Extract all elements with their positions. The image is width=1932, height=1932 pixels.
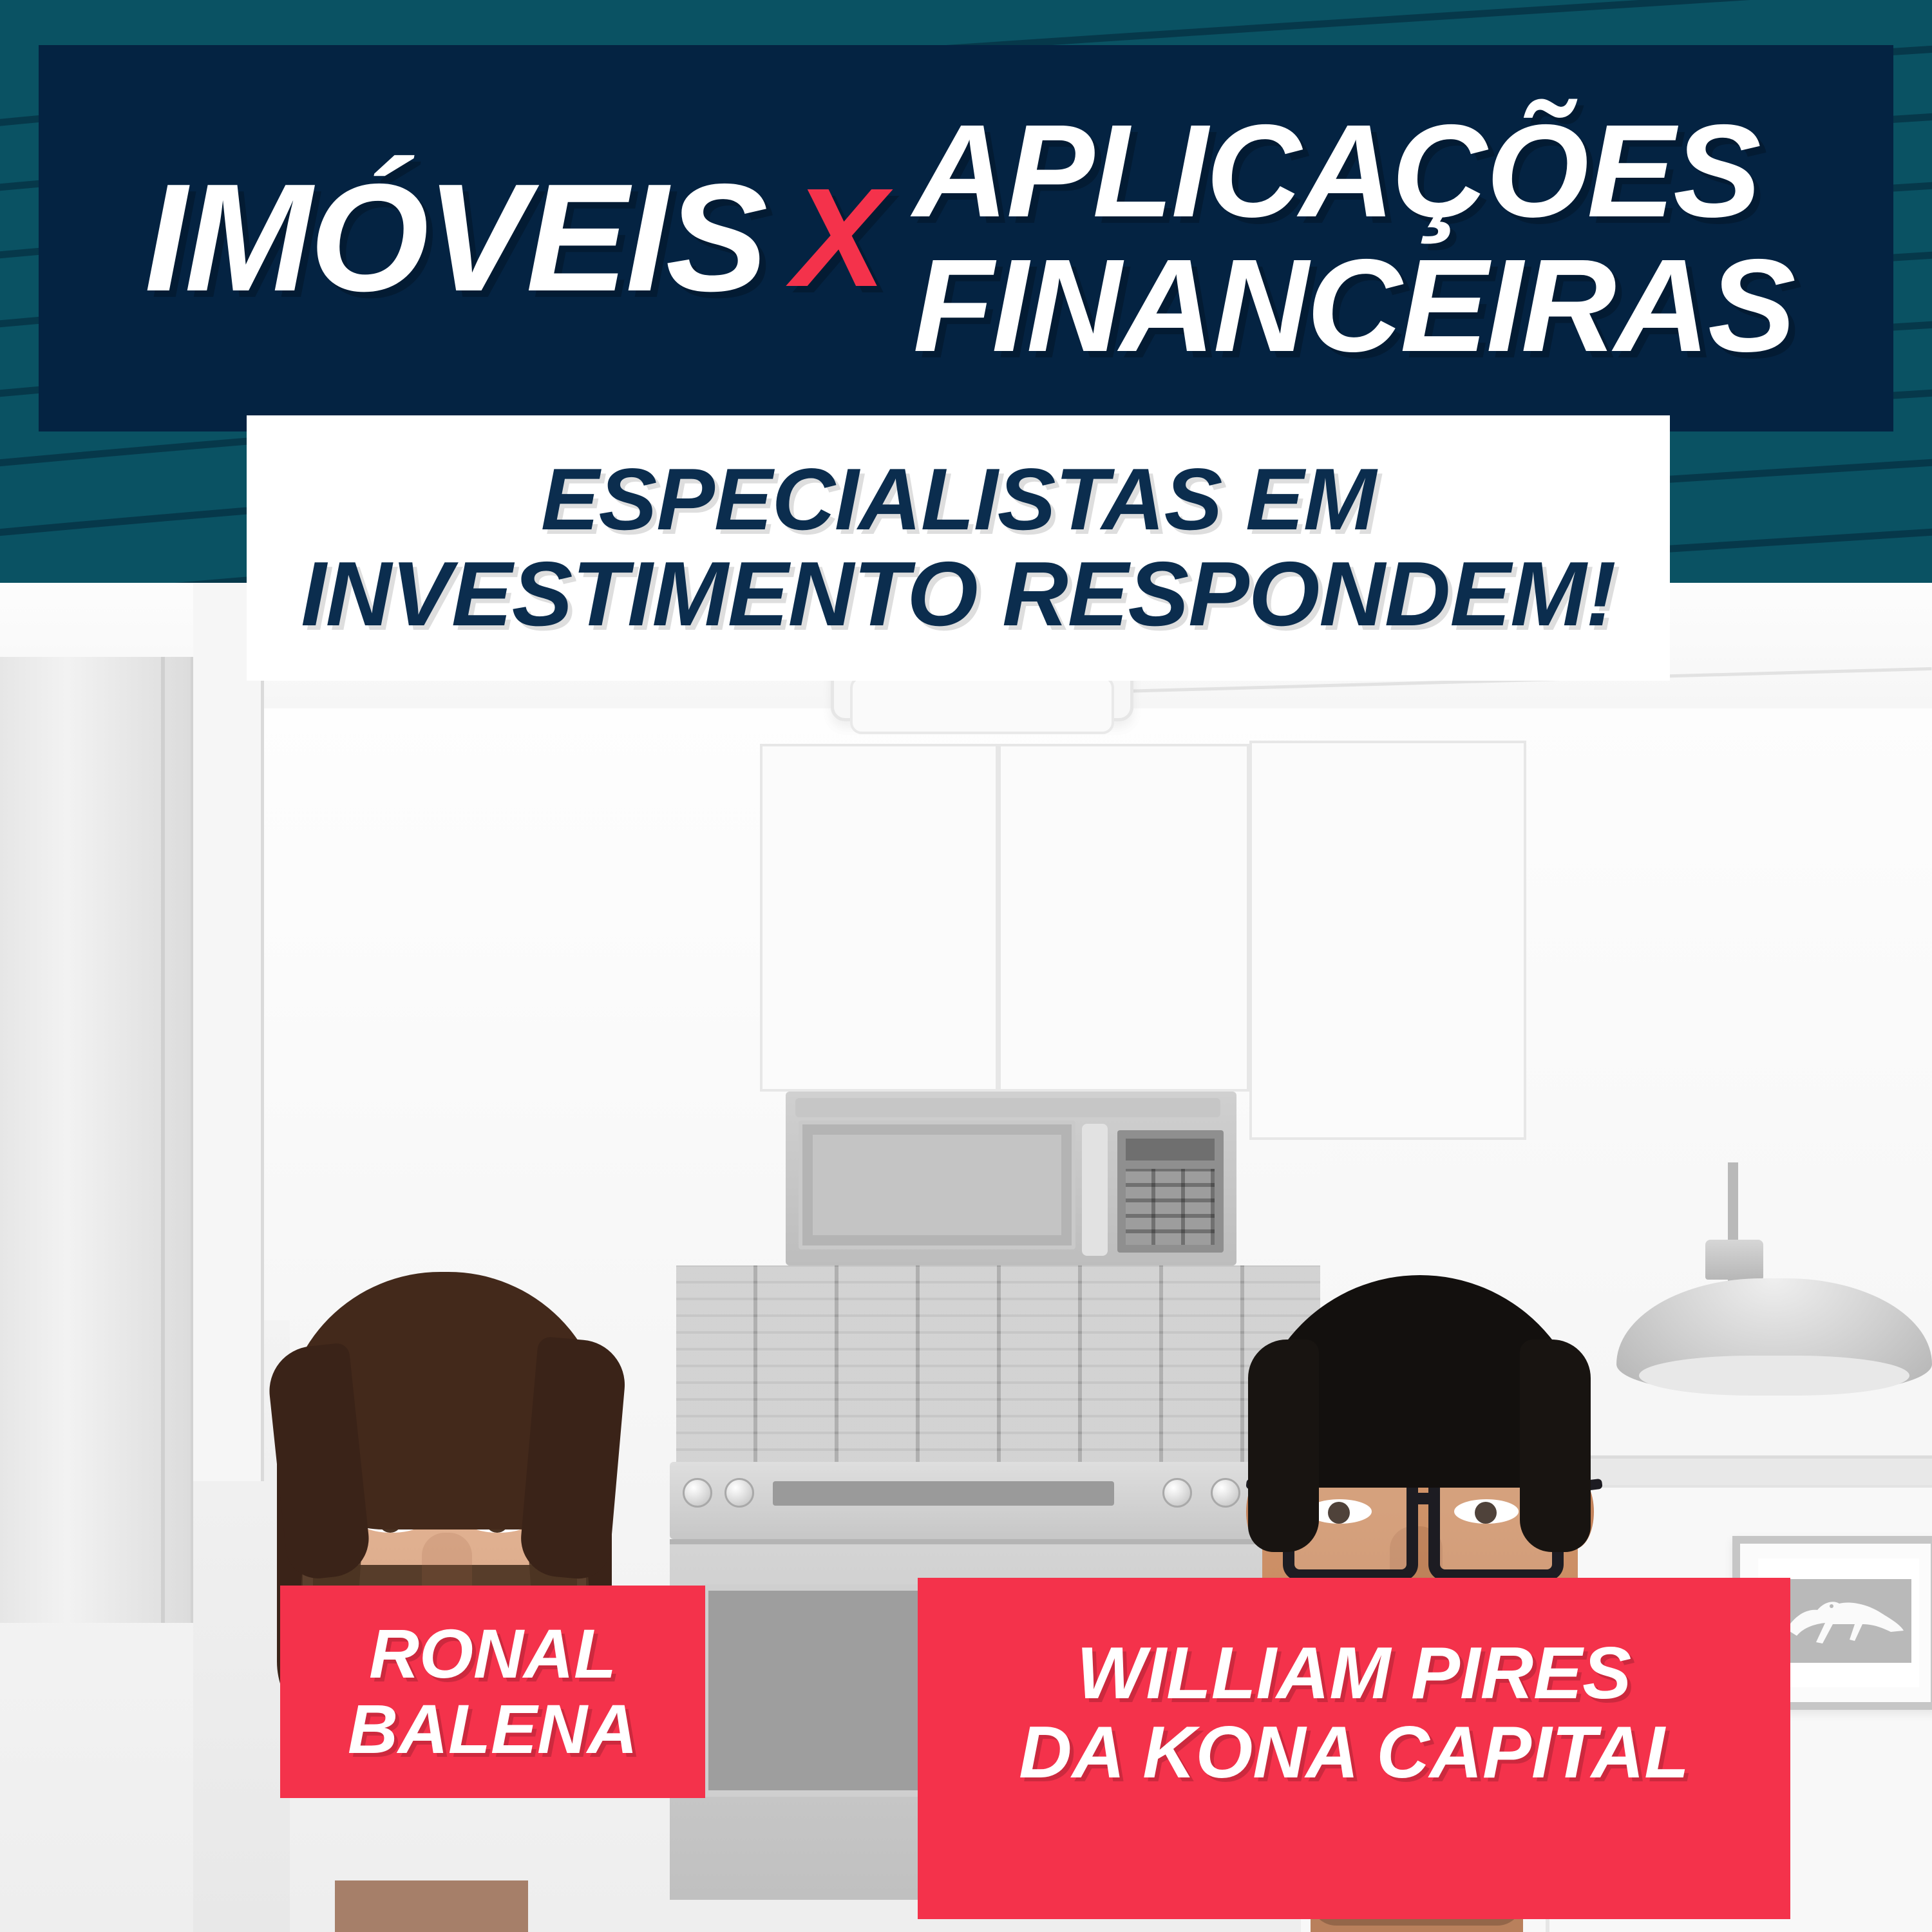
microwave-vent [795,1098,1220,1117]
door-frame [193,580,264,1481]
headline-right-line-2: FINANCEIRAS [913,238,1794,373]
upper-cabinet-middle [998,744,1249,1092]
pendant-lamp-inner [1639,1356,1909,1396]
headline-left-word: IMÓVEIS [144,166,765,311]
name-badge-2-line-1: WILLIAM PIRES [1077,1634,1631,1713]
name-badge-2-line-2: DA KONA CAPITAL [1019,1713,1689,1792]
promo-poster: IMÓVEIS X APLICAÇÕES FINANCEIRAS ESPECIA… [0,0,1932,1932]
microwave-handle [1082,1124,1108,1256]
headline-row: IMÓVEIS X APLICAÇÕES FINANCEIRAS [39,45,1893,431]
microwave-display [1126,1139,1215,1160]
name-badge-1-line-2: BALENA [348,1692,638,1767]
name-badge-person-2: WILLIAM PIRES DA KONA CAPITAL [918,1578,1790,1919]
pendant-lamp-cap [1705,1240,1763,1280]
person-2-hair-side-left [1248,1340,1319,1552]
headline-versus-x: X [792,171,885,305]
subtitle-line-2: INVESTIMENTO RESPONDEM! [301,548,1615,641]
upper-cabinet-right [1249,741,1526,1140]
headline-banner: IMÓVEIS X APLICAÇÕES FINANCEIRAS [39,45,1893,431]
headline-right-line-1: APLICAÇÕES [913,104,1759,238]
name-badge-person-1: RONAL BALENA [280,1586,705,1798]
refrigerator-seam [161,657,165,1623]
person-2-eyeglass-bridge [1412,1493,1437,1504]
stove-knob [683,1478,712,1508]
microwave-window [813,1135,1061,1235]
stove-knob [724,1478,754,1508]
upper-cabinet-left [760,744,998,1092]
headline-right-words: APLICAÇÕES FINANCEIRAS [913,104,1794,373]
ceiling-panel-light-inner [850,676,1114,734]
subtitle-card: ESPECIALISTAS EM INVESTIMENTO RESPONDEM! [247,415,1670,681]
tile-backsplash-grout [676,1265,1320,1465]
microwave-keypad [1126,1169,1215,1245]
running-animal-icon [1777,1591,1906,1652]
person-2-hair-side-right [1520,1340,1591,1552]
name-badge-1-line-1: RONAL [369,1616,616,1692]
person-1-neck-shadow [335,1880,528,1932]
stove-knob [1211,1478,1240,1508]
stove-knob [1162,1478,1192,1508]
stove-display [773,1481,1114,1506]
subtitle-line-1: ESPECIALISTAS EM [541,455,1376,544]
